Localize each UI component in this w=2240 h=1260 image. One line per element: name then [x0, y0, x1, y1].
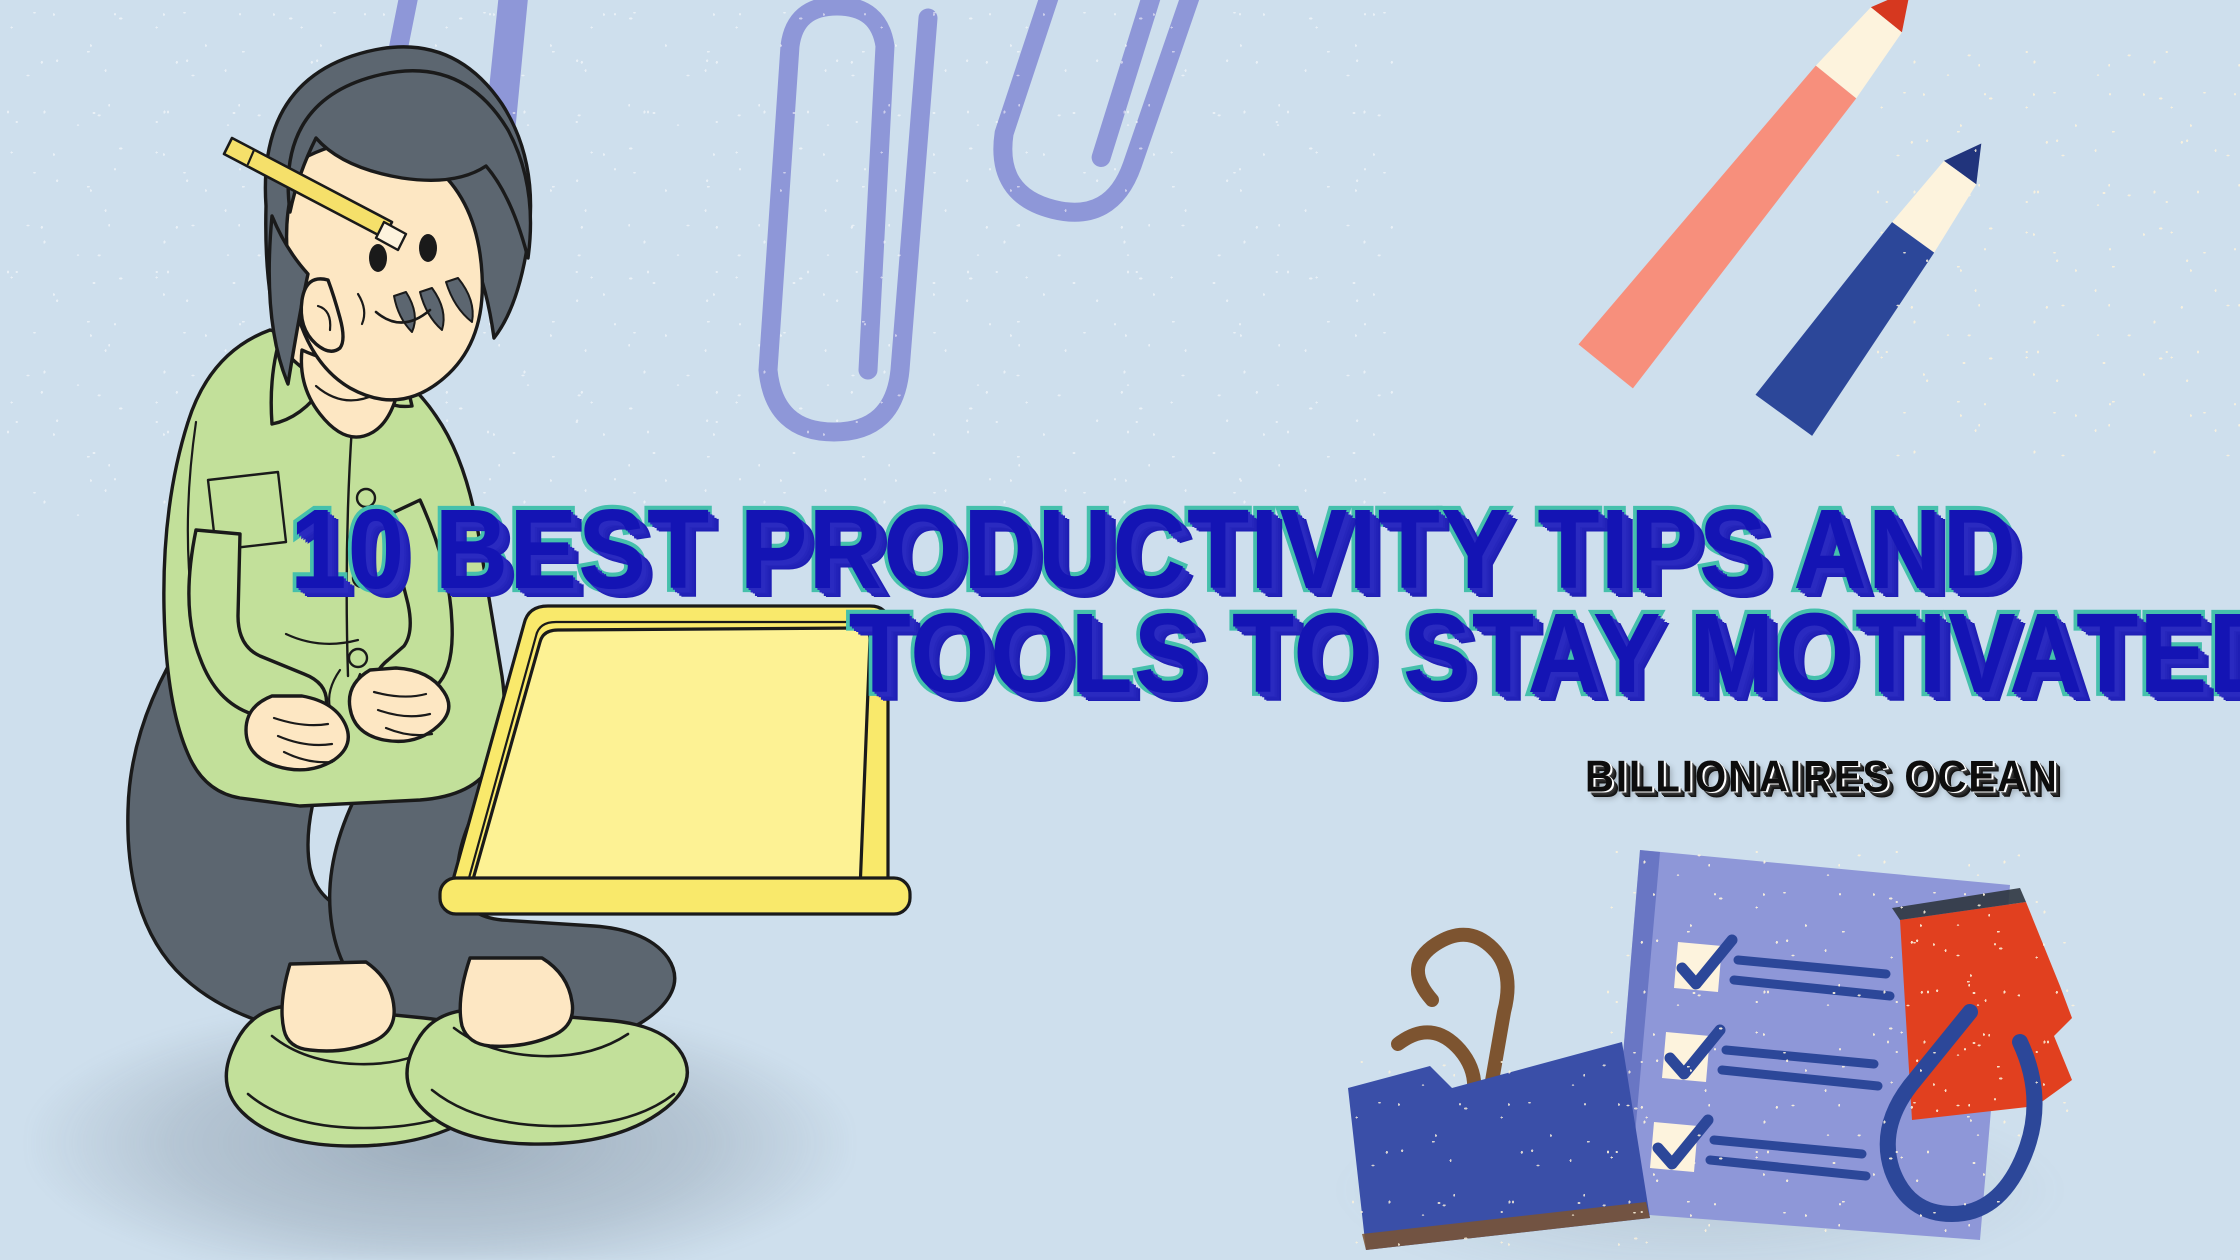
- checklist-and-clips-group: [1360, 820, 2240, 1260]
- laptop-base: [440, 878, 910, 914]
- ankle-left: [282, 962, 394, 1051]
- pencil-group: [1700, 0, 2240, 460]
- poster-canvas: 10 BEST PRODUCTIVITY TIPS AND TOOLS TO S…: [0, 0, 2240, 1260]
- ankle-right: [460, 958, 572, 1046]
- eye-left: [369, 244, 387, 272]
- brand-subtitle: BILLIONAIRES OCEAN: [1585, 752, 2059, 802]
- poster-title-block: 10 BEST PRODUCTIVITY TIPS AND TOOLS TO S…: [290, 498, 2170, 706]
- eye-right: [419, 234, 437, 262]
- title-line-2: TOOLS TO STAY MOTIVATED: [290, 593, 2240, 716]
